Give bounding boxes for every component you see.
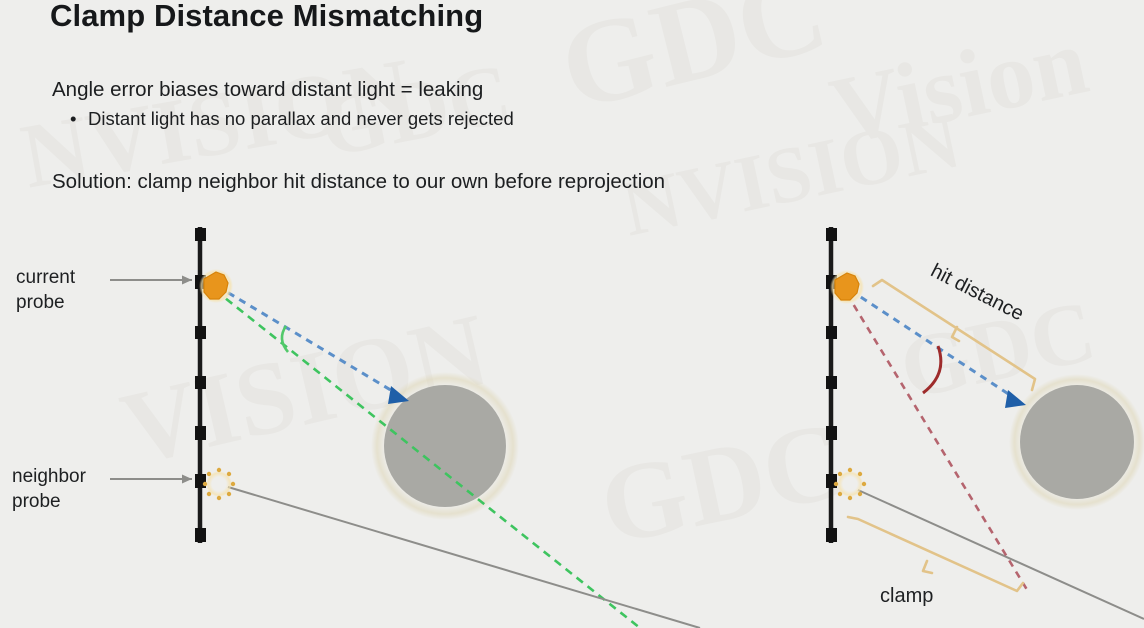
wall-tick (826, 426, 837, 440)
current-probe-marker-right (830, 270, 864, 304)
wall-tick (826, 528, 837, 542)
hit-distance-brace (873, 280, 1035, 390)
clamp-brace (848, 517, 1023, 591)
blue-dashed-ray-left (217, 286, 394, 392)
gray-ray-right (858, 490, 1144, 619)
wall-tick (826, 326, 837, 339)
wall-tick (195, 326, 206, 339)
diagram-figure (0, 0, 1144, 628)
red-dashed-ray-right (847, 294, 1029, 593)
current-probe-marker-left (199, 269, 233, 303)
wall-tick (826, 376, 837, 389)
angle-arc-right (923, 346, 941, 393)
neighbor-probe-marker-left (203, 468, 235, 500)
blue-arrowhead-right (1005, 390, 1026, 408)
green-dashed-ray-left (215, 290, 640, 628)
wall-tick (195, 426, 206, 440)
leader-arrow-current-probe (110, 276, 192, 285)
neighbor-probe-marker-right (834, 468, 866, 500)
wall-tick (195, 528, 206, 542)
wall-right (826, 227, 837, 543)
occluder-circle-left (384, 385, 506, 507)
blue-dashed-ray-right (850, 290, 1010, 395)
left-diagram (110, 227, 700, 628)
wall-tick (195, 376, 206, 389)
leader-arrow-neighbor-probe (110, 475, 192, 484)
right-diagram (826, 227, 1144, 619)
wall-tick (195, 228, 206, 241)
angle-arc-left (282, 326, 288, 352)
occluder-circle-right (1020, 385, 1134, 499)
wall-tick (826, 228, 837, 241)
slide-canvas: GDC Vision NVISION GDC VISION GDC NVISIO… (0, 0, 1144, 628)
